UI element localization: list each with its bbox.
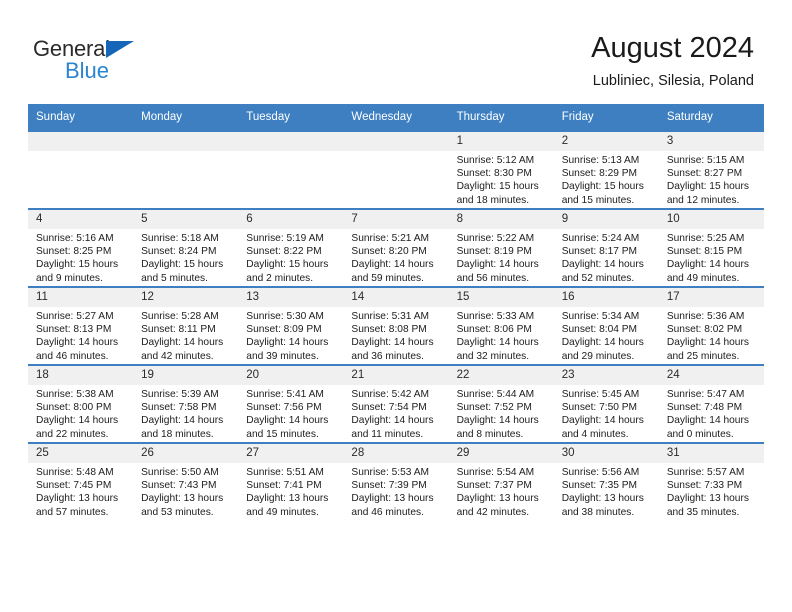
title-block: August 2024 Lubliniec, Silesia, Poland [591, 30, 754, 90]
daylight-text-line2: and 59 minutes. [351, 272, 443, 285]
day-details: Sunrise: 5:57 AMSunset: 7:33 PMDaylight:… [659, 463, 764, 519]
daylight-text-line1: Daylight: 14 hours [246, 414, 338, 427]
sunrise-text: Sunrise: 5:48 AM [36, 466, 128, 479]
sunset-text: Sunset: 7:58 PM [141, 401, 233, 414]
day-number: 29 [449, 444, 554, 463]
day-details: Sunrise: 5:18 AMSunset: 8:24 PMDaylight:… [133, 229, 238, 285]
calendar-day-cell[interactable]: 11Sunrise: 5:27 AMSunset: 8:13 PMDayligh… [28, 287, 133, 365]
calendar-day-cell[interactable]: 24Sunrise: 5:47 AMSunset: 7:48 PMDayligh… [659, 365, 764, 443]
calendar-week-row: 25Sunrise: 5:48 AMSunset: 7:45 PMDayligh… [28, 443, 764, 520]
day-number: 24 [659, 366, 764, 385]
calendar-day-cell[interactable]: 12Sunrise: 5:28 AMSunset: 8:11 PMDayligh… [133, 287, 238, 365]
sunrise-text: Sunrise: 5:18 AM [141, 232, 233, 245]
daylight-text-line2: and 29 minutes. [562, 350, 654, 363]
day-details: Sunrise: 5:39 AMSunset: 7:58 PMDaylight:… [133, 385, 238, 441]
daylight-text-line2: and 35 minutes. [667, 506, 759, 519]
daylight-text-line2: and 49 minutes. [246, 506, 338, 519]
day-details: Sunrise: 5:19 AMSunset: 8:22 PMDaylight:… [238, 229, 343, 285]
daylight-text-line2: and 38 minutes. [562, 506, 654, 519]
day-number [343, 132, 448, 151]
calendar-day-cell[interactable]: 21Sunrise: 5:42 AMSunset: 7:54 PMDayligh… [343, 365, 448, 443]
calendar-day-cell[interactable]: 4Sunrise: 5:16 AMSunset: 8:25 PMDaylight… [28, 209, 133, 287]
sunset-text: Sunset: 8:09 PM [246, 323, 338, 336]
daylight-text-line2: and 49 minutes. [667, 272, 759, 285]
sunrise-text: Sunrise: 5:12 AM [457, 154, 549, 167]
day-details: Sunrise: 5:53 AMSunset: 7:39 PMDaylight:… [343, 463, 448, 519]
sunrise-text: Sunrise: 5:50 AM [141, 466, 233, 479]
sunset-text: Sunset: 8:02 PM [667, 323, 759, 336]
daylight-text-line1: Daylight: 13 hours [246, 492, 338, 505]
daylight-text-line2: and 15 minutes. [562, 194, 654, 207]
daylight-text-line1: Daylight: 14 hours [351, 414, 443, 427]
daylight-text-line1: Daylight: 14 hours [562, 258, 654, 271]
day-details: Sunrise: 5:30 AMSunset: 8:09 PMDaylight:… [238, 307, 343, 363]
day-details: Sunrise: 5:34 AMSunset: 8:04 PMDaylight:… [554, 307, 659, 363]
day-number: 2 [554, 132, 659, 151]
calendar-day-cell[interactable]: 13Sunrise: 5:30 AMSunset: 8:09 PMDayligh… [238, 287, 343, 365]
day-number: 17 [659, 288, 764, 307]
day-details: Sunrise: 5:47 AMSunset: 7:48 PMDaylight:… [659, 385, 764, 441]
daylight-text-line2: and 18 minutes. [141, 428, 233, 441]
sunset-text: Sunset: 8:30 PM [457, 167, 549, 180]
sunrise-text: Sunrise: 5:56 AM [562, 466, 654, 479]
sunrise-text: Sunrise: 5:31 AM [351, 310, 443, 323]
day-number: 4 [28, 210, 133, 229]
calendar-week-row: 4Sunrise: 5:16 AMSunset: 8:25 PMDaylight… [28, 209, 764, 287]
sunset-text: Sunset: 7:56 PM [246, 401, 338, 414]
daylight-text-line2: and 46 minutes. [36, 350, 128, 363]
day-number: 8 [449, 210, 554, 229]
daylight-text-line1: Daylight: 14 hours [667, 336, 759, 349]
day-details: Sunrise: 5:54 AMSunset: 7:37 PMDaylight:… [449, 463, 554, 519]
sunrise-text: Sunrise: 5:42 AM [351, 388, 443, 401]
sunset-text: Sunset: 7:33 PM [667, 479, 759, 492]
sunrise-text: Sunrise: 5:30 AM [246, 310, 338, 323]
daylight-text-line1: Daylight: 14 hours [351, 258, 443, 271]
sunrise-text: Sunrise: 5:38 AM [36, 388, 128, 401]
calendar-day-cell[interactable]: 10Sunrise: 5:25 AMSunset: 8:15 PMDayligh… [659, 209, 764, 287]
calendar-day-cell[interactable]: 25Sunrise: 5:48 AMSunset: 7:45 PMDayligh… [28, 443, 133, 520]
sunset-text: Sunset: 7:43 PM [141, 479, 233, 492]
daylight-text-line1: Daylight: 15 hours [141, 258, 233, 271]
daylight-text-line1: Daylight: 15 hours [457, 180, 549, 193]
day-number: 10 [659, 210, 764, 229]
day-number: 31 [659, 444, 764, 463]
daylight-text-line1: Daylight: 14 hours [246, 336, 338, 349]
daylight-text-line1: Daylight: 14 hours [141, 414, 233, 427]
calendar-body: 1Sunrise: 5:12 AMSunset: 8:30 PMDaylight… [28, 131, 764, 520]
brand-name-general: General [33, 36, 110, 61]
sunset-text: Sunset: 7:52 PM [457, 401, 549, 414]
sunset-text: Sunset: 8:11 PM [141, 323, 233, 336]
day-details: Sunrise: 5:56 AMSunset: 7:35 PMDaylight:… [554, 463, 659, 519]
sunrise-text: Sunrise: 5:21 AM [351, 232, 443, 245]
day-number: 30 [554, 444, 659, 463]
day-details: Sunrise: 5:51 AMSunset: 7:41 PMDaylight:… [238, 463, 343, 519]
daylight-text-line2: and 22 minutes. [36, 428, 128, 441]
daylight-text-line2: and 2 minutes. [246, 272, 338, 285]
calendar-day-cell[interactable]: 16Sunrise: 5:34 AMSunset: 8:04 PMDayligh… [554, 287, 659, 365]
daylight-text-line2: and 32 minutes. [457, 350, 549, 363]
sunrise-text: Sunrise: 5:33 AM [457, 310, 549, 323]
weekday-header-thursday: Thursday [449, 104, 554, 131]
day-details: Sunrise: 5:16 AMSunset: 8:25 PMDaylight:… [28, 229, 133, 285]
day-details: Sunrise: 5:38 AMSunset: 8:00 PMDaylight:… [28, 385, 133, 441]
calendar-day-cell[interactable]: 27Sunrise: 5:51 AMSunset: 7:41 PMDayligh… [238, 443, 343, 520]
calendar-day-cell[interactable]: 31Sunrise: 5:57 AMSunset: 7:33 PMDayligh… [659, 443, 764, 520]
day-number: 3 [659, 132, 764, 151]
day-number [238, 132, 343, 151]
daylight-text-line2: and 8 minutes. [457, 428, 549, 441]
sunset-text: Sunset: 7:45 PM [36, 479, 128, 492]
day-number: 23 [554, 366, 659, 385]
daylight-text-line1: Daylight: 14 hours [141, 336, 233, 349]
calendar-week-row: 1Sunrise: 5:12 AMSunset: 8:30 PMDaylight… [28, 131, 764, 209]
daylight-text-line1: Daylight: 14 hours [351, 336, 443, 349]
calendar-table: Sunday Monday Tuesday Wednesday Thursday… [28, 104, 764, 520]
day-number: 7 [343, 210, 448, 229]
day-number: 22 [449, 366, 554, 385]
daylight-text-line2: and 11 minutes. [351, 428, 443, 441]
sunset-text: Sunset: 7:41 PM [246, 479, 338, 492]
calendar-day-cell[interactable]: 30Sunrise: 5:56 AMSunset: 7:35 PMDayligh… [554, 443, 659, 520]
sunrise-text: Sunrise: 5:19 AM [246, 232, 338, 245]
calendar-day-cell[interactable]: 15Sunrise: 5:33 AMSunset: 8:06 PMDayligh… [449, 287, 554, 365]
daylight-text-line1: Daylight: 14 hours [562, 336, 654, 349]
sunset-text: Sunset: 7:39 PM [351, 479, 443, 492]
daylight-text-line1: Daylight: 15 hours [246, 258, 338, 271]
weekday-header-row: Sunday Monday Tuesday Wednesday Thursday… [28, 104, 764, 131]
calendar-week-row: 11Sunrise: 5:27 AMSunset: 8:13 PMDayligh… [28, 287, 764, 365]
weekday-header-friday: Friday [554, 104, 659, 131]
sunset-text: Sunset: 8:19 PM [457, 245, 549, 258]
day-details: Sunrise: 5:33 AMSunset: 8:06 PMDaylight:… [449, 307, 554, 363]
sunrise-text: Sunrise: 5:44 AM [457, 388, 549, 401]
daylight-text-line2: and 53 minutes. [141, 506, 233, 519]
daylight-text-line2: and 57 minutes. [36, 506, 128, 519]
daylight-text-line2: and 56 minutes. [457, 272, 549, 285]
sunset-text: Sunset: 8:17 PM [562, 245, 654, 258]
sunset-text: Sunset: 8:27 PM [667, 167, 759, 180]
sunrise-text: Sunrise: 5:57 AM [667, 466, 759, 479]
day-number: 18 [28, 366, 133, 385]
calendar-day-cell[interactable]: 22Sunrise: 5:44 AMSunset: 7:52 PMDayligh… [449, 365, 554, 443]
daylight-text-line2: and 15 minutes. [246, 428, 338, 441]
sunset-text: Sunset: 7:35 PM [562, 479, 654, 492]
day-details: Sunrise: 5:24 AMSunset: 8:17 PMDaylight:… [554, 229, 659, 285]
sunset-text: Sunset: 8:24 PM [141, 245, 233, 258]
calendar-day-cell[interactable]: 26Sunrise: 5:50 AMSunset: 7:43 PMDayligh… [133, 443, 238, 520]
daylight-text-line2: and 0 minutes. [667, 428, 759, 441]
daylight-text-line1: Daylight: 15 hours [562, 180, 654, 193]
daylight-text-line2: and 52 minutes. [562, 272, 654, 285]
calendar-cell-empty [343, 131, 448, 209]
daylight-text-line1: Daylight: 13 hours [457, 492, 549, 505]
daylight-text-line1: Daylight: 13 hours [562, 492, 654, 505]
sunrise-text: Sunrise: 5:36 AM [667, 310, 759, 323]
day-number [28, 132, 133, 151]
weekday-header-monday: Monday [133, 104, 238, 131]
daylight-text-line1: Daylight: 14 hours [667, 414, 759, 427]
sunrise-text: Sunrise: 5:53 AM [351, 466, 443, 479]
calendar-day-cell[interactable]: 29Sunrise: 5:54 AMSunset: 7:37 PMDayligh… [449, 443, 554, 520]
weekday-header-wednesday: Wednesday [343, 104, 448, 131]
daylight-text-line2: and 5 minutes. [141, 272, 233, 285]
sunset-text: Sunset: 8:29 PM [562, 167, 654, 180]
calendar-day-cell[interactable]: 8Sunrise: 5:22 AMSunset: 8:19 PMDaylight… [449, 209, 554, 287]
calendar-day-cell[interactable]: 14Sunrise: 5:31 AMSunset: 8:08 PMDayligh… [343, 287, 448, 365]
daylight-text-line1: Daylight: 13 hours [141, 492, 233, 505]
day-number: 25 [28, 444, 133, 463]
page-header: General Blue August 2024 Lubliniec, Sile… [0, 0, 792, 104]
calendar-day-cell[interactable]: 1Sunrise: 5:12 AMSunset: 8:30 PMDaylight… [449, 131, 554, 209]
daylight-text-line1: Daylight: 14 hours [667, 258, 759, 271]
daylight-text-line2: and 39 minutes. [246, 350, 338, 363]
sunset-text: Sunset: 8:20 PM [351, 245, 443, 258]
daylight-text-line1: Daylight: 14 hours [36, 336, 128, 349]
day-details: Sunrise: 5:21 AMSunset: 8:20 PMDaylight:… [343, 229, 448, 285]
day-number: 27 [238, 444, 343, 463]
sunrise-text: Sunrise: 5:34 AM [562, 310, 654, 323]
day-number: 16 [554, 288, 659, 307]
sunrise-text: Sunrise: 5:39 AM [141, 388, 233, 401]
daylight-text-line1: Daylight: 14 hours [457, 258, 549, 271]
sunset-text: Sunset: 8:25 PM [36, 245, 128, 258]
sunset-text: Sunset: 8:00 PM [36, 401, 128, 414]
page-title: August 2024 [591, 30, 754, 66]
day-details: Sunrise: 5:45 AMSunset: 7:50 PMDaylight:… [554, 385, 659, 441]
weekday-header-tuesday: Tuesday [238, 104, 343, 131]
sunset-text: Sunset: 7:48 PM [667, 401, 759, 414]
sunset-text: Sunset: 7:54 PM [351, 401, 443, 414]
daylight-text-line1: Daylight: 13 hours [351, 492, 443, 505]
day-number: 13 [238, 288, 343, 307]
sunrise-text: Sunrise: 5:47 AM [667, 388, 759, 401]
day-details: Sunrise: 5:44 AMSunset: 7:52 PMDaylight:… [449, 385, 554, 441]
day-number: 5 [133, 210, 238, 229]
day-number: 1 [449, 132, 554, 151]
day-number: 12 [133, 288, 238, 307]
daylight-text-line2: and 4 minutes. [562, 428, 654, 441]
sunrise-text: Sunrise: 5:22 AM [457, 232, 549, 245]
daylight-text-line2: and 18 minutes. [457, 194, 549, 207]
day-details: Sunrise: 5:31 AMSunset: 8:08 PMDaylight:… [343, 307, 448, 363]
calendar-week-row: 18Sunrise: 5:38 AMSunset: 8:00 PMDayligh… [28, 365, 764, 443]
day-number: 11 [28, 288, 133, 307]
day-details: Sunrise: 5:15 AMSunset: 8:27 PMDaylight:… [659, 151, 764, 207]
daylight-text-line1: Daylight: 14 hours [457, 414, 549, 427]
daylight-text-line2: and 42 minutes. [141, 350, 233, 363]
day-details: Sunrise: 5:36 AMSunset: 8:02 PMDaylight:… [659, 307, 764, 363]
day-details: Sunrise: 5:42 AMSunset: 7:54 PMDaylight:… [343, 385, 448, 441]
daylight-text-line1: Daylight: 13 hours [667, 492, 759, 505]
day-number: 9 [554, 210, 659, 229]
calendar-day-cell[interactable]: 2Sunrise: 5:13 AMSunset: 8:29 PMDaylight… [554, 131, 659, 209]
sunset-text: Sunset: 8:13 PM [36, 323, 128, 336]
day-details: Sunrise: 5:13 AMSunset: 8:29 PMDaylight:… [554, 151, 659, 207]
brand-logo[interactable]: General Blue [33, 36, 233, 88]
daylight-text-line2: and 42 minutes. [457, 506, 549, 519]
day-details: Sunrise: 5:41 AMSunset: 7:56 PMDaylight:… [238, 385, 343, 441]
brand-logo-top: General [33, 36, 233, 62]
weekday-header-sunday: Sunday [28, 104, 133, 131]
calendar-cell-empty [238, 131, 343, 209]
calendar-day-cell[interactable]: 7Sunrise: 5:21 AMSunset: 8:20 PMDaylight… [343, 209, 448, 287]
weekday-header-saturday: Saturday [659, 104, 764, 131]
day-details: Sunrise: 5:28 AMSunset: 8:11 PMDaylight:… [133, 307, 238, 363]
calendar-day-cell[interactable]: 6Sunrise: 5:19 AMSunset: 8:22 PMDaylight… [238, 209, 343, 287]
day-details: Sunrise: 5:25 AMSunset: 8:15 PMDaylight:… [659, 229, 764, 285]
day-details: Sunrise: 5:50 AMSunset: 7:43 PMDaylight:… [133, 463, 238, 519]
day-details: Sunrise: 5:12 AMSunset: 8:30 PMDaylight:… [449, 151, 554, 207]
day-number: 6 [238, 210, 343, 229]
day-details: Sunrise: 5:48 AMSunset: 7:45 PMDaylight:… [28, 463, 133, 519]
calendar-day-cell[interactable]: 23Sunrise: 5:45 AMSunset: 7:50 PMDayligh… [554, 365, 659, 443]
calendar-cell-empty [133, 131, 238, 209]
sunset-text: Sunset: 8:04 PM [562, 323, 654, 336]
sunrise-text: Sunrise: 5:45 AM [562, 388, 654, 401]
calendar-day-cell[interactable]: 28Sunrise: 5:53 AMSunset: 7:39 PMDayligh… [343, 443, 448, 520]
calendar-day-cell[interactable]: 5Sunrise: 5:18 AMSunset: 8:24 PMDaylight… [133, 209, 238, 287]
daylight-text-line2: and 36 minutes. [351, 350, 443, 363]
daylight-text-line1: Daylight: 14 hours [457, 336, 549, 349]
calendar-page: General Blue August 2024 Lubliniec, Sile… [0, 0, 792, 612]
sunset-text: Sunset: 8:15 PM [667, 245, 759, 258]
sunrise-text: Sunrise: 5:25 AM [667, 232, 759, 245]
sunset-text: Sunset: 7:50 PM [562, 401, 654, 414]
calendar-day-cell[interactable]: 9Sunrise: 5:24 AMSunset: 8:17 PMDaylight… [554, 209, 659, 287]
calendar-day-cell[interactable]: 20Sunrise: 5:41 AMSunset: 7:56 PMDayligh… [238, 365, 343, 443]
calendar-day-cell[interactable]: 3Sunrise: 5:15 AMSunset: 8:27 PMDaylight… [659, 131, 764, 209]
sunrise-text: Sunrise: 5:16 AM [36, 232, 128, 245]
triangle-icon [106, 41, 134, 58]
calendar-cell-empty [28, 131, 133, 209]
day-details: Sunrise: 5:27 AMSunset: 8:13 PMDaylight:… [28, 307, 133, 363]
daylight-text-line2: and 25 minutes. [667, 350, 759, 363]
sunset-text: Sunset: 7:37 PM [457, 479, 549, 492]
daylight-text-line1: Daylight: 15 hours [36, 258, 128, 271]
page-subtitle: Lubliniec, Silesia, Poland [591, 72, 754, 90]
day-details: Sunrise: 5:22 AMSunset: 8:19 PMDaylight:… [449, 229, 554, 285]
daylight-text-line1: Daylight: 14 hours [36, 414, 128, 427]
sunrise-text: Sunrise: 5:13 AM [562, 154, 654, 167]
sunrise-text: Sunrise: 5:54 AM [457, 466, 549, 479]
sunset-text: Sunset: 8:22 PM [246, 245, 338, 258]
day-number: 26 [133, 444, 238, 463]
day-number: 20 [238, 366, 343, 385]
day-number: 15 [449, 288, 554, 307]
calendar-day-cell[interactable]: 17Sunrise: 5:36 AMSunset: 8:02 PMDayligh… [659, 287, 764, 365]
daylight-text-line1: Daylight: 13 hours [36, 492, 128, 505]
sunrise-text: Sunrise: 5:28 AM [141, 310, 233, 323]
daylight-text-line2: and 12 minutes. [667, 194, 759, 207]
sunset-text: Sunset: 8:06 PM [457, 323, 549, 336]
sunrise-text: Sunrise: 5:15 AM [667, 154, 759, 167]
daylight-text-line2: and 9 minutes. [36, 272, 128, 285]
daylight-text-line1: Daylight: 14 hours [562, 414, 654, 427]
daylight-text-line2: and 46 minutes. [351, 506, 443, 519]
day-number: 14 [343, 288, 448, 307]
calendar-day-cell[interactable]: 19Sunrise: 5:39 AMSunset: 7:58 PMDayligh… [133, 365, 238, 443]
sunrise-text: Sunrise: 5:41 AM [246, 388, 338, 401]
sunrise-text: Sunrise: 5:24 AM [562, 232, 654, 245]
day-number: 21 [343, 366, 448, 385]
day-number: 28 [343, 444, 448, 463]
calendar-day-cell[interactable]: 18Sunrise: 5:38 AMSunset: 8:00 PMDayligh… [28, 365, 133, 443]
day-number: 19 [133, 366, 238, 385]
sunrise-text: Sunrise: 5:51 AM [246, 466, 338, 479]
daylight-text-line1: Daylight: 15 hours [667, 180, 759, 193]
sunset-text: Sunset: 8:08 PM [351, 323, 443, 336]
sunrise-text: Sunrise: 5:27 AM [36, 310, 128, 323]
day-number [133, 132, 238, 151]
